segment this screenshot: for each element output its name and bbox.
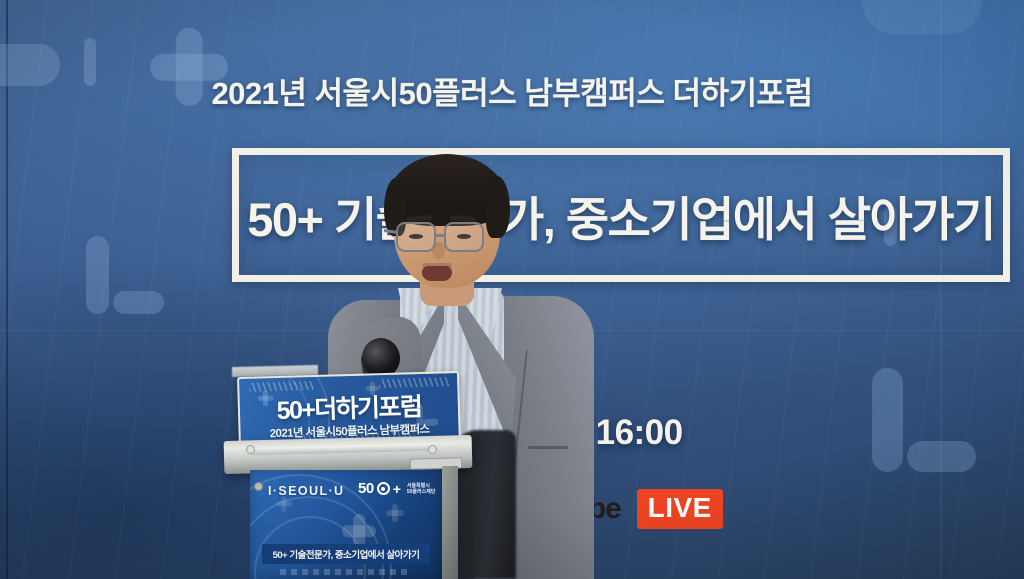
event-photo-scene: 2021년 서울시50플러스 남부캠퍼스 더하기포럼 50+ 기술전문가, 중소… — [0, 0, 1024, 579]
photo-vignette — [0, 0, 1024, 579]
